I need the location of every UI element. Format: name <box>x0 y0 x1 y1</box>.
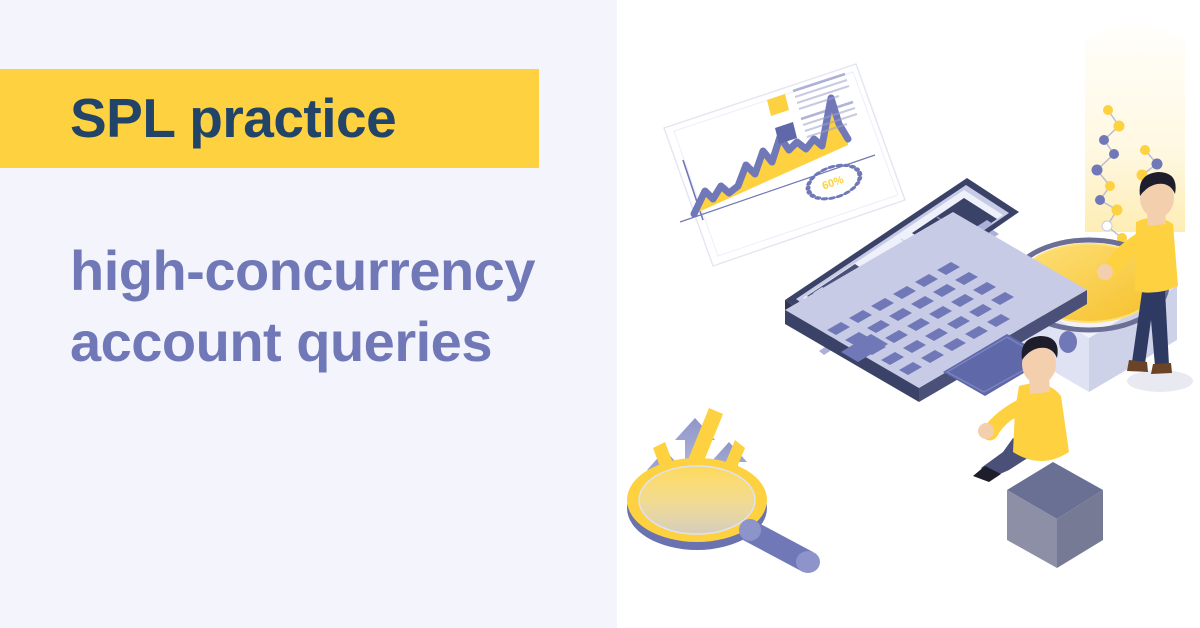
standing-person-sweater <box>1135 217 1178 292</box>
device-port-2 <box>1059 331 1077 353</box>
text-panel: SPL practice high-concurrency account qu… <box>0 0 617 628</box>
standing-person-hand <box>1097 264 1113 280</box>
standing-person-shoe-left <box>1127 360 1148 372</box>
subtitle: high-concurrency account queries <box>70 236 600 377</box>
magnifier-handle-cap <box>796 551 820 573</box>
subtitle-line-2: account queries <box>70 307 600 378</box>
seated-person-sweater <box>1013 384 1069 461</box>
title-bar: SPL practice <box>0 69 539 168</box>
floating-chart-panel: 60% <box>664 64 905 266</box>
subtitle-line-1: high-concurrency <box>70 236 600 307</box>
promo-banner: SPL practice high-concurrency account qu… <box>0 0 1200 628</box>
magnifier-with-growth-arrows <box>627 408 820 573</box>
standing-person-shoe-right <box>1151 363 1172 374</box>
magnifier-handle-joint <box>739 519 761 541</box>
illustration-panel: 60% <box>617 0 1200 628</box>
seated-person-hand <box>978 423 994 439</box>
page-title: SPL practice <box>70 91 396 146</box>
isometric-scene: 60% <box>617 0 1200 628</box>
